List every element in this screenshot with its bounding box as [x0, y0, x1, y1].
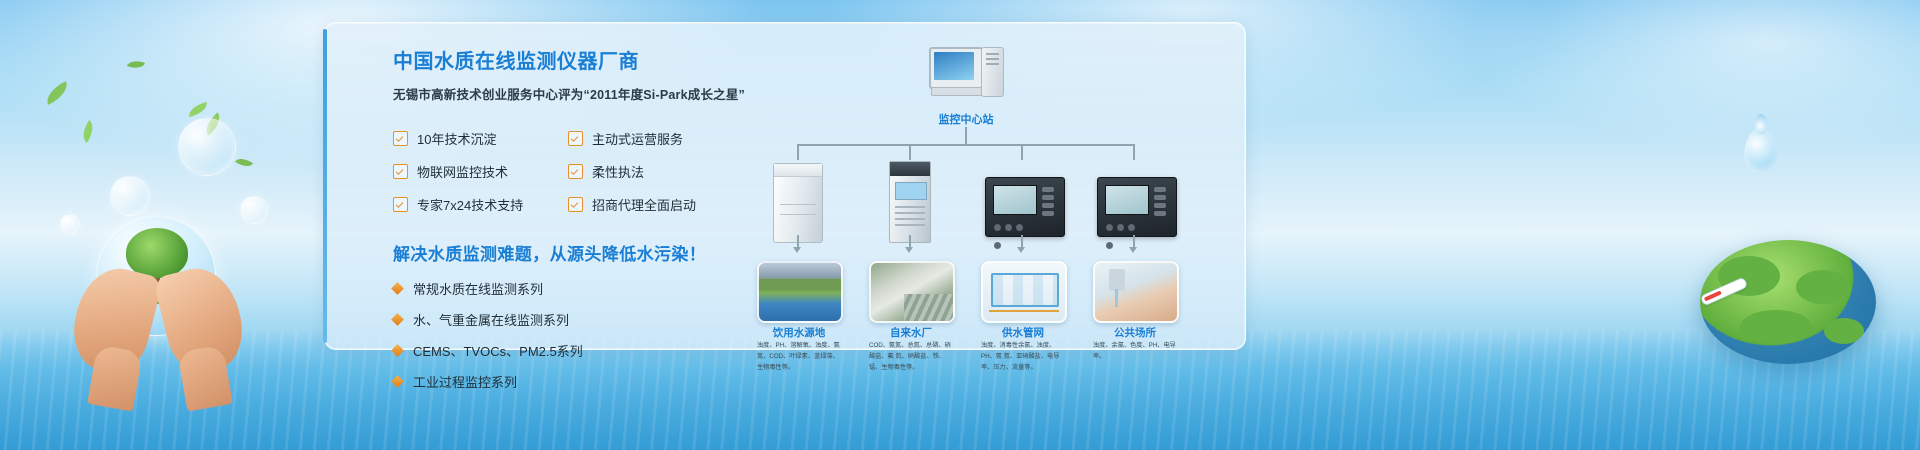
bubble-icon [178, 118, 236, 176]
water-drop-icon [1744, 128, 1778, 174]
left-column: 中国水质在线监测仪器厂商 无锡市高新技术创业服务中心评为“2011年度Si-Pa… [393, 45, 753, 403]
feature-label: 柔性执法 [592, 162, 644, 181]
feature-label: 主动式运营服务 [592, 129, 683, 148]
diagram-connector-drop [909, 146, 911, 160]
list-item: 工业过程监控系列 [393, 372, 753, 391]
diagram-connector-drop [1021, 146, 1023, 160]
checkbox-checked-icon [393, 197, 408, 212]
list-item: 水、气重金属在线监测系列 [393, 310, 753, 329]
scene-description: 浊度、余氯、色度、PH、电导率。 [1093, 341, 1177, 363]
page-title: 中国水质在线监测仪器厂商 [393, 45, 753, 74]
feature-checklist: 10年技术沉淀 主动式运营服务 物联网监控技术 柔性执法 专家7x24技术支持 … [393, 129, 753, 214]
diagram-connector-bar [797, 144, 1135, 146]
checkbox-checked-icon [568, 164, 583, 179]
checkbox-checked-icon [393, 131, 408, 146]
feature-item: 招商代理全面启动 [568, 195, 743, 214]
scene-photo-supply-network [981, 261, 1067, 323]
bubble-icon [60, 214, 80, 234]
scene-caption: 供水管网 [977, 325, 1069, 340]
scene-description: COD、氨氮、总氮、总磷、硝酸盐、氟 氮、硝酸盐、铁、锰、生物毒性等。 [869, 341, 953, 374]
feature-item: 专家7x24技术支持 [393, 195, 568, 214]
leaf-icon [42, 81, 71, 105]
product-line-label: 工业过程监控系列 [413, 372, 517, 391]
product-line-label: 常规水质在线监测系列 [413, 279, 543, 298]
diagram-connector-drop [1133, 235, 1135, 249]
leaf-icon [78, 120, 98, 143]
feature-label: 专家7x24技术支持 [417, 195, 523, 214]
feature-label: 招商代理全面启动 [592, 195, 696, 214]
diagram-connector-trunk [965, 127, 967, 145]
monitoring-center-computer-icon [929, 47, 1003, 99]
checkbox-checked-icon [568, 131, 583, 146]
feature-item: 10年技术沉淀 [393, 129, 568, 148]
leaf-icon [127, 58, 145, 72]
diagram-connector-drop [1133, 146, 1135, 160]
diamond-bullet-icon [391, 375, 404, 388]
bubble-icon [110, 176, 150, 216]
scene-caption: 公共场所 [1089, 325, 1181, 340]
product-line-list: 常规水质在线监测系列 水、气重金属在线监测系列 CEMS、TVOCs、PM2.5… [393, 279, 753, 391]
scene-photo-water-source [757, 261, 843, 323]
feature-item: 主动式运营服务 [568, 129, 743, 148]
product-line-label: CEMS、TVOCs、PM2.5系列 [413, 341, 583, 360]
diagram-connector-drop [1021, 235, 1023, 249]
checkbox-checked-icon [393, 164, 408, 179]
feature-item: 柔性执法 [568, 162, 743, 181]
scene-caption: 饮用水源地 [753, 325, 845, 340]
device-panel-controller-wide [979, 161, 1071, 243]
scene-description: 浊度、消毒性余氯、浊度、PH、氨 氮、亚硝酸盐、电导率、压力、流量等。 [981, 341, 1065, 374]
system-diagram: 监控中心站 [755, 33, 1225, 343]
checkbox-checked-icon [568, 197, 583, 212]
list-item: 常规水质在线监测系列 [393, 279, 753, 298]
feature-item: 物联网监控技术 [393, 162, 568, 181]
list-item: CEMS、TVOCs、PM2.5系列 [393, 341, 753, 360]
monitoring-center-label: 监控中心站 [901, 111, 1031, 127]
leaf-icon [235, 154, 253, 171]
earth-globe-icon [1700, 240, 1876, 364]
scene-photo-water-plant [869, 261, 955, 323]
feature-label: 物联网监控技术 [417, 162, 508, 181]
bubble-icon [240, 196, 268, 224]
leaf-icon [187, 102, 209, 117]
diamond-bullet-icon [391, 344, 404, 357]
product-line-label: 水、气重金属在线监测系列 [413, 310, 569, 329]
scene-caption: 自来水厂 [865, 325, 957, 340]
page-subtitle: 无锡市高新技术创业服务中心评为“2011年度Si-Park成长之星” [393, 84, 753, 103]
tree-icon [126, 228, 188, 278]
diamond-bullet-icon [391, 282, 404, 295]
scene-description: 浊度、PH、溶解氧、浊度、氨氮、COD、叶绿素、蓝绿藻、生物毒性等。 [757, 341, 841, 374]
device-rack-analyzer [867, 161, 959, 243]
diagram-connector-drop [797, 146, 799, 160]
diagram-connector-drop [797, 235, 799, 249]
device-panel-controller [1091, 161, 1183, 243]
device-cabinet-analyzer [755, 161, 847, 243]
scene-photo-public-place [1093, 261, 1179, 323]
diagram-connector-drop [909, 235, 911, 249]
feature-label: 10年技术沉淀 [417, 129, 496, 148]
section-subheading: 解决水质监测难题，从源头降低水污染！ [393, 240, 753, 265]
content-panel: 中国水质在线监测仪器厂商 无锡市高新技术创业服务中心评为“2011年度Si-Pa… [324, 22, 1246, 350]
diamond-bullet-icon [391, 313, 404, 326]
